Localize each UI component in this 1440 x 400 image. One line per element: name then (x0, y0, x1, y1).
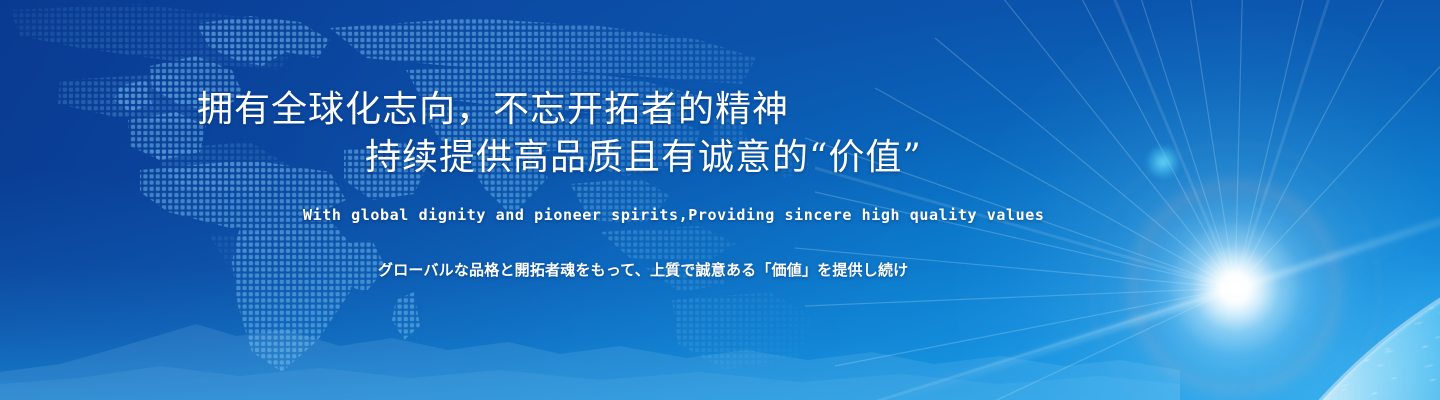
headline-line-1: 拥有全球化志向，不忘开拓者的精神 (197, 89, 789, 130)
hero-banner: 拥有全球化志向，不忘开拓者的精神 持续提供高品质且有诚意的“价值” With g… (0, 0, 1440, 400)
subtitle-english: With global dignity and pioneer spirits,… (303, 206, 1045, 224)
headline-line-2: 持续提供高品质且有诚意的“价值” (197, 134, 922, 182)
subtitle-japanese: グローバルな品格と開拓者魂をもって、上質で誠意ある「価値」を提供し続け (378, 259, 908, 280)
slogan-block: 拥有全球化志向，不忘开拓者的精神 持续提供高品质且有诚意的“价值” With g… (0, 0, 1060, 400)
headline: 拥有全球化志向，不忘开拓者的精神 持续提供高品质且有诚意的“价值” (197, 86, 922, 182)
